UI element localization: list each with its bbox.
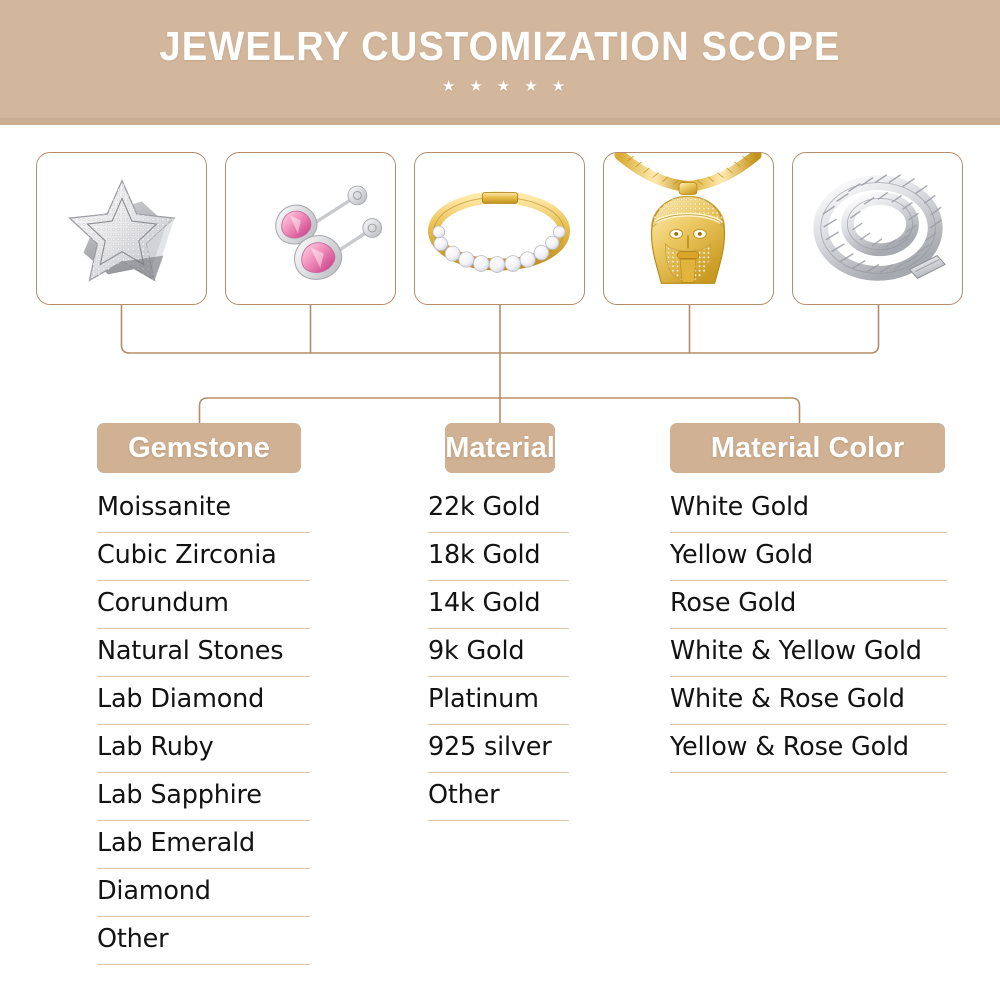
list-item[interactable]: Other bbox=[428, 773, 569, 821]
infographic-page: JEWELRY CUSTOMIZATION SCOPE ★★★★★ bbox=[0, 0, 1000, 1000]
list-item[interactable]: 925 silver bbox=[428, 725, 569, 773]
list-item[interactable]: White & Yellow Gold bbox=[670, 629, 947, 677]
list-item[interactable]: Lab Ruby bbox=[97, 725, 310, 773]
category-column-material: Material 22k Gold 18k Gold 14k Gold 9k G… bbox=[445, 423, 555, 473]
gemstone-option-list: Moissanite Cubic Zirconia Corundum Natur… bbox=[97, 485, 310, 965]
star-icon: ★ bbox=[435, 76, 462, 96]
star-icon: ★ bbox=[462, 76, 489, 96]
list-item[interactable]: Lab Emerald bbox=[97, 821, 310, 869]
star-rating-decoration: ★★★★★ bbox=[0, 76, 1000, 96]
list-item[interactable]: Other bbox=[97, 917, 310, 965]
list-item[interactable]: Platinum bbox=[428, 677, 569, 725]
list-item[interactable]: Natural Stones bbox=[97, 629, 310, 677]
category-header-gemstone: Gemstone bbox=[97, 423, 301, 473]
product-card-star-pendant[interactable] bbox=[36, 152, 207, 305]
product-card-cuban-link-chain[interactable] bbox=[792, 152, 963, 305]
product-card-jesus-piece-pendant[interactable] bbox=[603, 152, 774, 305]
category-column-gemstone: Gemstone Moissanite Cubic Zirconia Corun… bbox=[97, 423, 301, 473]
header-banner-edge bbox=[0, 118, 1000, 125]
list-item[interactable]: Lab Diamond bbox=[97, 677, 310, 725]
list-item[interactable]: Diamond bbox=[97, 869, 310, 917]
category-header-material-color: Material Color bbox=[670, 423, 945, 473]
material-option-list: 22k Gold 18k Gold 14k Gold 9k Gold Plati… bbox=[428, 485, 569, 821]
product-card-stud-earrings[interactable] bbox=[225, 152, 396, 305]
material-color-option-list: White Gold Yellow Gold Rose Gold White &… bbox=[670, 485, 947, 773]
list-item[interactable]: Corundum bbox=[97, 581, 310, 629]
list-item[interactable]: 14k Gold bbox=[428, 581, 569, 629]
stud-earrings-icon bbox=[226, 153, 395, 304]
jesus-piece-pendant-icon bbox=[604, 153, 773, 304]
list-item[interactable]: 9k Gold bbox=[428, 629, 569, 677]
list-item[interactable]: 22k Gold bbox=[428, 485, 569, 533]
product-card-row bbox=[36, 152, 964, 305]
list-item[interactable]: White Gold bbox=[670, 485, 947, 533]
list-item[interactable]: Yellow Gold bbox=[670, 533, 947, 581]
list-item[interactable]: Cubic Zirconia bbox=[97, 533, 310, 581]
list-item[interactable]: Rose Gold bbox=[670, 581, 947, 629]
star-icon: ★ bbox=[545, 76, 572, 96]
tennis-bracelet-icon bbox=[415, 153, 584, 304]
page-title: JEWELRY CUSTOMIZATION SCOPE bbox=[35, 22, 965, 70]
star-icon: ★ bbox=[517, 76, 544, 96]
cuban-link-chain-icon bbox=[793, 153, 962, 304]
star-icon: ★ bbox=[490, 76, 517, 96]
star-pendant-icon bbox=[37, 153, 206, 304]
list-item[interactable]: White & Rose Gold bbox=[670, 677, 947, 725]
list-item[interactable]: Lab Sapphire bbox=[97, 773, 310, 821]
list-item[interactable]: Yellow & Rose Gold bbox=[670, 725, 947, 773]
list-item[interactable]: Moissanite bbox=[97, 485, 310, 533]
category-column-material-color: Material Color White Gold Yellow Gold Ro… bbox=[670, 423, 945, 473]
product-card-tennis-bracelet[interactable] bbox=[414, 152, 585, 305]
category-header-material: Material bbox=[445, 423, 555, 473]
list-item[interactable]: 18k Gold bbox=[428, 533, 569, 581]
